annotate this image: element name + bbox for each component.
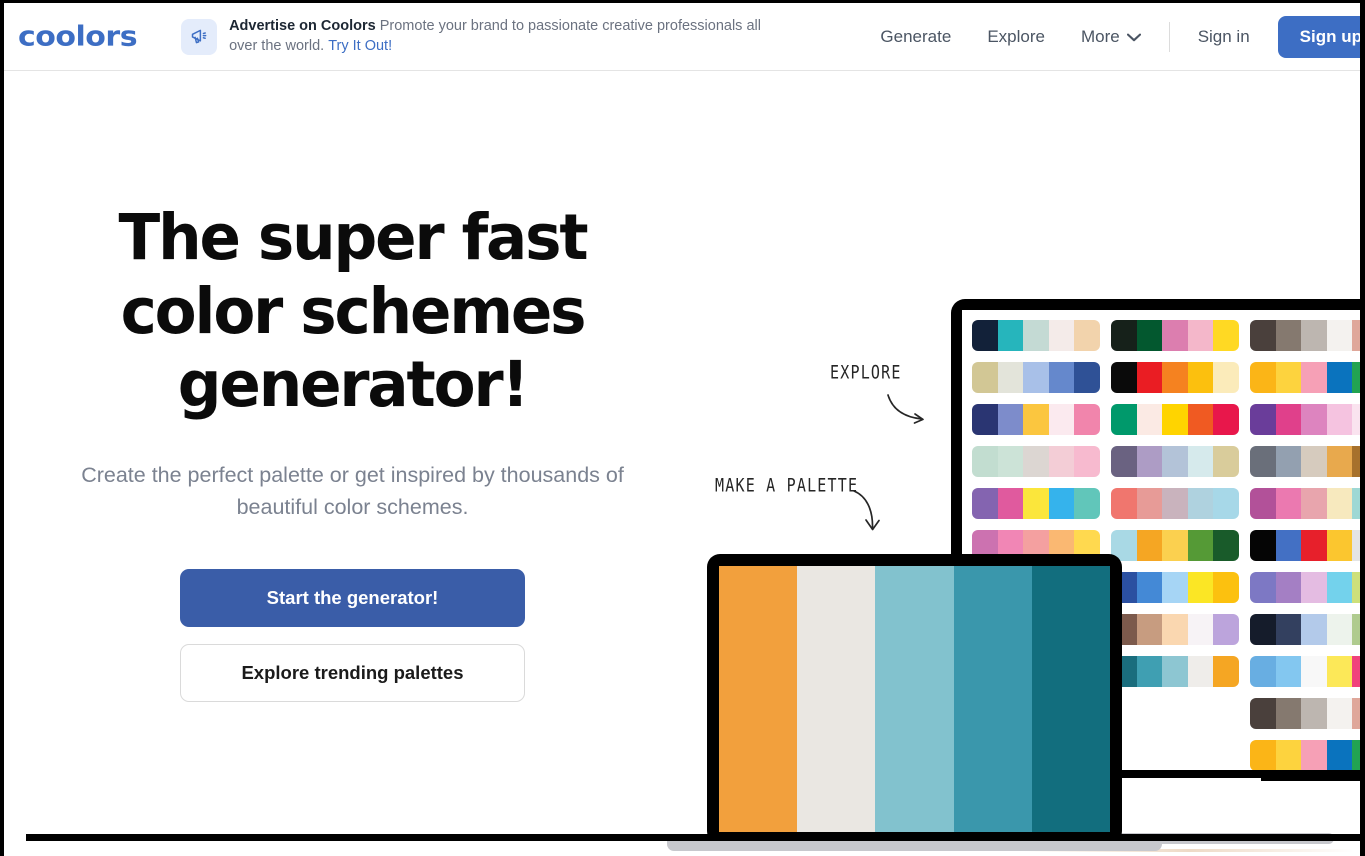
palette-card[interactable] <box>972 404 1100 435</box>
nav-item-more-label: More <box>1081 27 1120 47</box>
palette-swatch <box>1137 614 1163 645</box>
palette-swatch <box>1276 362 1302 393</box>
palette-swatch <box>1111 488 1137 519</box>
palette-swatch <box>1327 698 1353 729</box>
palette-swatch <box>1111 362 1137 393</box>
palette-swatch <box>1352 446 1365 477</box>
palette-swatch <box>998 362 1024 393</box>
nav-item-more[interactable]: More <box>1063 27 1159 47</box>
palette-swatch <box>1213 320 1239 351</box>
palette-card[interactable] <box>1111 320 1239 351</box>
palette-column-2 <box>1111 320 1239 770</box>
palette-swatch <box>1049 488 1075 519</box>
coolors-logo[interactable]: coolors <box>18 23 137 51</box>
advertise-promo-banner[interactable]: Advertise on Coolors Promote your brand … <box>181 17 761 56</box>
palette-swatch <box>1023 320 1049 351</box>
laptop-swatch-3[interactable] <box>875 566 953 832</box>
palette-swatch <box>1213 614 1239 645</box>
palette-swatch <box>1162 404 1188 435</box>
palette-card[interactable] <box>1250 404 1365 435</box>
palette-card[interactable] <box>1111 614 1239 645</box>
palette-swatch <box>1023 488 1049 519</box>
palette-swatch <box>1162 488 1188 519</box>
palette-swatch <box>1213 530 1239 561</box>
palette-swatch <box>1301 446 1327 477</box>
palette-card[interactable] <box>972 320 1100 351</box>
palette-swatch <box>1352 572 1365 603</box>
palette-swatch <box>1137 446 1163 477</box>
sign-in-link[interactable]: Sign in <box>1180 27 1268 47</box>
palette-card[interactable] <box>1250 320 1365 351</box>
palette-swatch <box>1327 656 1353 687</box>
palette-swatch <box>1301 614 1327 645</box>
palette-swatch <box>1276 530 1302 561</box>
palette-card[interactable] <box>1250 446 1365 477</box>
palette-swatch <box>1327 530 1353 561</box>
palette-card[interactable] <box>1111 404 1239 435</box>
palette-swatch <box>1250 530 1276 561</box>
palette-swatch <box>1162 572 1188 603</box>
palette-swatch <box>1137 320 1163 351</box>
palette-swatch <box>1049 404 1075 435</box>
chevron-down-icon <box>1127 27 1141 47</box>
palette-swatch <box>1188 362 1214 393</box>
palette-swatch <box>1074 488 1100 519</box>
palette-swatch <box>1250 740 1276 770</box>
palette-swatch <box>1301 740 1327 770</box>
sign-up-button[interactable]: Sign up <box>1278 16 1365 58</box>
palette-swatch <box>1250 404 1276 435</box>
palette-swatch <box>1188 320 1214 351</box>
palette-swatch <box>1188 530 1214 561</box>
palette-swatch <box>972 488 998 519</box>
palette-swatch <box>1213 446 1239 477</box>
palette-swatch <box>1301 362 1327 393</box>
laptop-swatch-2[interactable] <box>797 566 875 832</box>
palette-card[interactable] <box>1250 572 1365 603</box>
palette-swatch <box>998 404 1024 435</box>
palette-card[interactable] <box>972 362 1100 393</box>
palette-swatch <box>1137 530 1163 561</box>
palette-swatch <box>1250 698 1276 729</box>
palette-swatch <box>1276 572 1302 603</box>
palette-swatch <box>1301 698 1327 729</box>
promo-title: Advertise on Coolors <box>229 18 376 34</box>
palette-swatch <box>1352 656 1365 687</box>
palette-swatch <box>1162 614 1188 645</box>
palette-swatch <box>1352 404 1365 435</box>
palette-swatch <box>1137 656 1163 687</box>
palette-swatch <box>1276 740 1302 770</box>
palette-swatch <box>1301 404 1327 435</box>
palette-swatch <box>972 404 998 435</box>
palette-card[interactable] <box>972 488 1100 519</box>
palette-swatch <box>1213 404 1239 435</box>
palette-swatch <box>1276 320 1302 351</box>
hero-section: The super fast color schemes generator! … <box>4 71 1360 855</box>
palette-swatch <box>972 320 998 351</box>
palette-card[interactable] <box>1250 740 1365 770</box>
palette-swatch <box>1137 404 1163 435</box>
palette-swatch <box>972 362 998 393</box>
palette-swatch <box>1301 320 1327 351</box>
nav-item-generate[interactable]: Generate <box>862 27 969 47</box>
monitor-stand-neck <box>1109 778 1261 841</box>
palette-card[interactable] <box>1250 530 1365 561</box>
palette-swatch <box>1213 362 1239 393</box>
palette-swatch <box>1111 320 1137 351</box>
palette-swatch <box>972 446 998 477</box>
palette-swatch <box>1162 530 1188 561</box>
palette-swatch <box>1137 362 1163 393</box>
palette-card[interactable] <box>1111 656 1239 687</box>
nav-divider <box>1169 22 1170 52</box>
nav-item-explore[interactable]: Explore <box>969 27 1063 47</box>
palette-swatch <box>1352 320 1365 351</box>
promo-try-it-out-link[interactable]: Try It Out! <box>328 38 392 54</box>
palette-swatch <box>1352 614 1365 645</box>
palette-card[interactable] <box>1250 488 1365 519</box>
palette-swatch <box>1327 362 1353 393</box>
palette-swatch <box>1352 488 1365 519</box>
palette-swatch <box>1162 656 1188 687</box>
laptop-device <box>707 554 1122 844</box>
palette-swatch <box>1276 404 1302 435</box>
browser-viewport: coolors Advertise on Coolors Promote you… <box>0 0 1365 856</box>
laptop-swatch-4[interactable] <box>954 566 1032 832</box>
palette-card[interactable] <box>1250 362 1365 393</box>
palette-swatch <box>1250 488 1276 519</box>
palette-swatch <box>1276 614 1302 645</box>
palette-swatch <box>1023 404 1049 435</box>
palette-swatch <box>1327 614 1353 645</box>
laptop-swatch-5[interactable] <box>1032 566 1110 832</box>
palette-swatch <box>1250 656 1276 687</box>
palette-swatch <box>1162 446 1188 477</box>
palette-swatch <box>1250 362 1276 393</box>
laptop-base <box>667 840 1162 851</box>
palette-card[interactable] <box>1250 614 1365 645</box>
palette-swatch <box>1049 362 1075 393</box>
palette-swatch <box>998 488 1024 519</box>
palette-swatch <box>1276 698 1302 729</box>
palette-swatch <box>1213 656 1239 687</box>
palette-swatch <box>1188 572 1214 603</box>
palette-swatch <box>1111 446 1137 477</box>
palette-swatch <box>1327 320 1353 351</box>
promo-text: Advertise on Coolors Promote your brand … <box>229 17 761 56</box>
palette-card[interactable] <box>1111 572 1239 603</box>
palette-card[interactable] <box>972 446 1100 477</box>
palette-swatch <box>1301 488 1327 519</box>
palette-card[interactable] <box>1111 446 1239 477</box>
palette-card[interactable] <box>1111 530 1239 561</box>
palette-card[interactable] <box>1111 488 1239 519</box>
palette-swatch <box>1188 404 1214 435</box>
palette-swatch <box>1074 320 1100 351</box>
palette-swatch <box>1137 572 1163 603</box>
main-navigation: Generate Explore More Sign in Sign up <box>862 3 1360 70</box>
palette-swatch <box>1301 656 1327 687</box>
palette-swatch <box>1327 572 1353 603</box>
palette-swatch <box>1137 488 1163 519</box>
site-header: coolors Advertise on Coolors Promote you… <box>4 3 1360 71</box>
palette-swatch <box>1352 698 1365 729</box>
palette-swatch <box>1074 362 1100 393</box>
palette-swatch <box>1301 572 1327 603</box>
palette-swatch <box>1074 404 1100 435</box>
palette-swatch <box>1188 656 1214 687</box>
palette-card[interactable] <box>1250 656 1365 687</box>
palette-swatch <box>1276 446 1302 477</box>
palette-swatch <box>1188 488 1214 519</box>
palette-swatch <box>1276 488 1302 519</box>
palette-swatch <box>1327 488 1353 519</box>
palette-swatch <box>1049 446 1075 477</box>
palette-swatch <box>1188 614 1214 645</box>
laptop-screen-palette <box>719 566 1110 832</box>
palette-swatch <box>1327 740 1353 770</box>
palette-swatch <box>1213 488 1239 519</box>
palette-swatch <box>1276 656 1302 687</box>
palette-swatch <box>1074 446 1100 477</box>
palette-swatch <box>1250 320 1276 351</box>
palette-swatch <box>1111 404 1137 435</box>
palette-swatch <box>998 320 1024 351</box>
palette-swatch <box>1162 320 1188 351</box>
palette-swatch <box>1352 530 1365 561</box>
palette-swatch <box>1023 446 1049 477</box>
palette-swatch <box>1023 362 1049 393</box>
palette-swatch <box>1352 740 1365 770</box>
palette-swatch <box>1327 446 1353 477</box>
palette-swatch <box>1188 446 1214 477</box>
megaphone-icon <box>181 19 217 55</box>
laptop-swatch-1[interactable] <box>719 566 797 832</box>
palette-swatch <box>1250 572 1276 603</box>
palette-swatch <box>1213 572 1239 603</box>
palette-swatch <box>1250 614 1276 645</box>
palette-swatch <box>1049 320 1075 351</box>
palette-column-3 <box>1250 320 1365 770</box>
palette-card[interactable] <box>1111 362 1239 393</box>
palette-swatch <box>1250 446 1276 477</box>
palette-swatch <box>998 446 1024 477</box>
device-illustration <box>4 71 1360 855</box>
palette-swatch <box>1162 362 1188 393</box>
palette-card[interactable] <box>1250 698 1365 729</box>
palette-swatch <box>1301 530 1327 561</box>
palette-swatch <box>1327 404 1353 435</box>
palette-swatch <box>1352 362 1365 393</box>
